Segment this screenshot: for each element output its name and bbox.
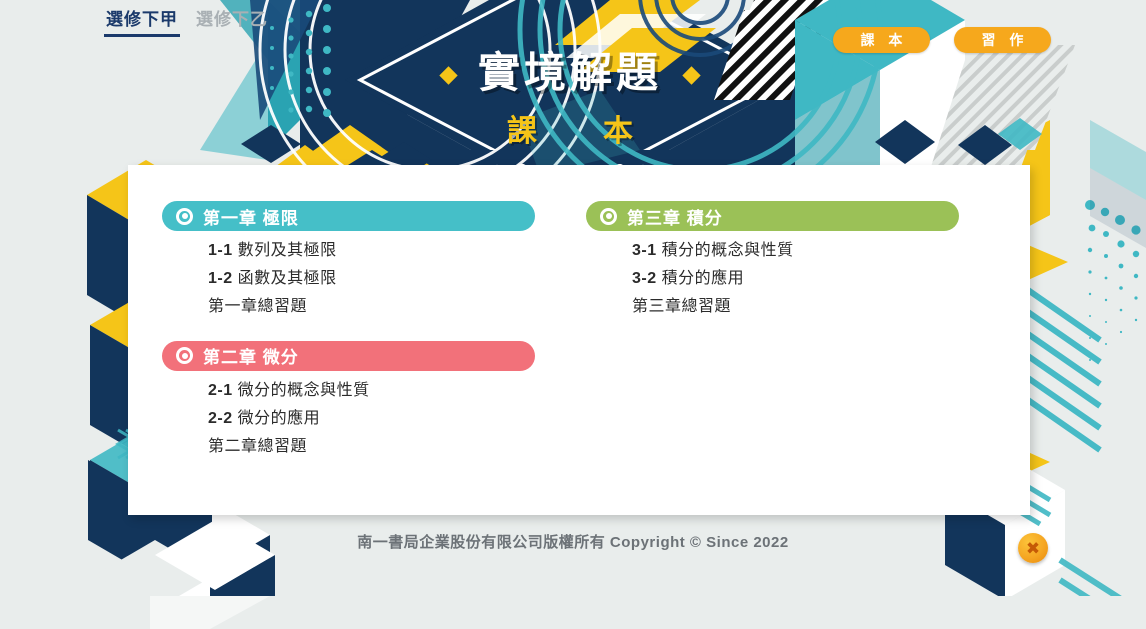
chapter-2-title: 第二章 微分 bbox=[203, 343, 299, 368]
diamond-marker-right-icon bbox=[682, 66, 700, 84]
list-item[interactable]: 3-1積分的概念與性質 bbox=[632, 241, 976, 260]
chapter-list-card: 第一章 極限 1-1數列及其極限 1-2函數及其極限 第一章總習題 bbox=[128, 165, 1030, 515]
resource-type-buttons: 課 本 習 作 bbox=[833, 27, 1051, 53]
chapter-2-items: 2-1微分的概念與性質 2-2微分的應用 第二章總習題 bbox=[162, 371, 552, 457]
chapter-3-title: 第三章 積分 bbox=[627, 204, 723, 229]
bullseye-icon bbox=[176, 208, 193, 225]
workbook-button[interactable]: 習 作 bbox=[954, 27, 1051, 53]
banner-title: 實境解題 bbox=[478, 39, 662, 100]
chapter-3: 第三章 積分 3-1積分的概念與性質 3-2積分的應用 第三章總習題 bbox=[586, 201, 976, 317]
section-label: 積分的應用 bbox=[662, 270, 745, 287]
chapter-1-title: 第一章 極限 bbox=[203, 204, 299, 229]
chapter-column-left: 第一章 極限 1-1數列及其極限 1-2函數及其極限 第一章總習題 bbox=[162, 201, 552, 480]
chapter-column-right: 第三章 積分 3-1積分的概念與性質 3-2積分的應用 第三章總習題 bbox=[586, 201, 976, 480]
section-label: 函數及其極限 bbox=[238, 270, 337, 287]
textbook-button[interactable]: 課 本 bbox=[833, 27, 930, 53]
section-label: 第三章總習題 bbox=[632, 298, 731, 315]
bullseye-icon bbox=[600, 208, 617, 225]
list-item[interactable]: 1-2函數及其極限 bbox=[208, 269, 552, 288]
list-item[interactable]: 1-1數列及其極限 bbox=[208, 241, 552, 260]
list-item[interactable]: 第一章總習題 bbox=[208, 297, 552, 316]
list-item[interactable]: 2-2微分的應用 bbox=[208, 409, 552, 428]
section-number: 1-2 bbox=[208, 270, 233, 287]
banner-subtitle: 課 本 bbox=[489, 106, 651, 150]
chapter-3-header[interactable]: 第三章 積分 bbox=[586, 201, 959, 231]
close-icon[interactable]: ✖ bbox=[1018, 533, 1048, 563]
banner: 實境解題 課 本 bbox=[400, 0, 740, 162]
list-item[interactable]: 第三章總習題 bbox=[632, 297, 976, 316]
chapter-2: 第二章 微分 2-1微分的概念與性質 2-2微分的應用 第二章總習題 bbox=[162, 341, 552, 457]
tab-xuanxiu-xia-yi[interactable]: 選修下乙 bbox=[194, 10, 270, 34]
chapter-1-header[interactable]: 第一章 極限 bbox=[162, 201, 535, 231]
section-label: 微分的概念與性質 bbox=[238, 382, 370, 399]
list-item[interactable]: 3-2積分的應用 bbox=[632, 269, 976, 288]
list-item[interactable]: 第二章總習題 bbox=[208, 437, 552, 456]
chapter-2-header[interactable]: 第二章 微分 bbox=[162, 341, 535, 371]
section-number: 3-2 bbox=[632, 270, 657, 287]
course-tabs: 選修下甲 選修下乙 bbox=[104, 10, 270, 37]
copyright-footer: 南一書局企業股份有限公司版權所有 Copyright © Since 2022 bbox=[0, 531, 1146, 552]
section-number: 2-2 bbox=[208, 410, 233, 427]
bullseye-icon bbox=[176, 347, 193, 364]
chapter-3-items: 3-1積分的概念與性質 3-2積分的應用 第三章總習題 bbox=[586, 231, 976, 317]
chapter-1: 第一章 極限 1-1數列及其極限 1-2函數及其極限 第一章總習題 bbox=[162, 201, 552, 317]
section-label: 第二章總習題 bbox=[208, 438, 307, 455]
chapter-1-items: 1-1數列及其極限 1-2函數及其極限 第一章總習題 bbox=[162, 231, 552, 317]
section-number: 3-1 bbox=[632, 242, 657, 259]
section-label: 積分的概念與性質 bbox=[662, 242, 794, 259]
diamond-marker-left-icon bbox=[439, 66, 457, 84]
section-number: 2-1 bbox=[208, 382, 233, 399]
section-number: 1-1 bbox=[208, 242, 233, 259]
section-label: 數列及其極限 bbox=[238, 242, 337, 259]
section-label: 微分的應用 bbox=[238, 410, 321, 427]
list-item[interactable]: 2-1微分的概念與性質 bbox=[208, 381, 552, 400]
app-window: 選修下甲 選修下乙 課 本 習 作 實境解題 課 本 第一章 極限 bbox=[0, 0, 1146, 629]
section-label: 第一章總習題 bbox=[208, 298, 307, 315]
tab-xuanxiu-xia-jia[interactable]: 選修下甲 bbox=[104, 10, 180, 37]
